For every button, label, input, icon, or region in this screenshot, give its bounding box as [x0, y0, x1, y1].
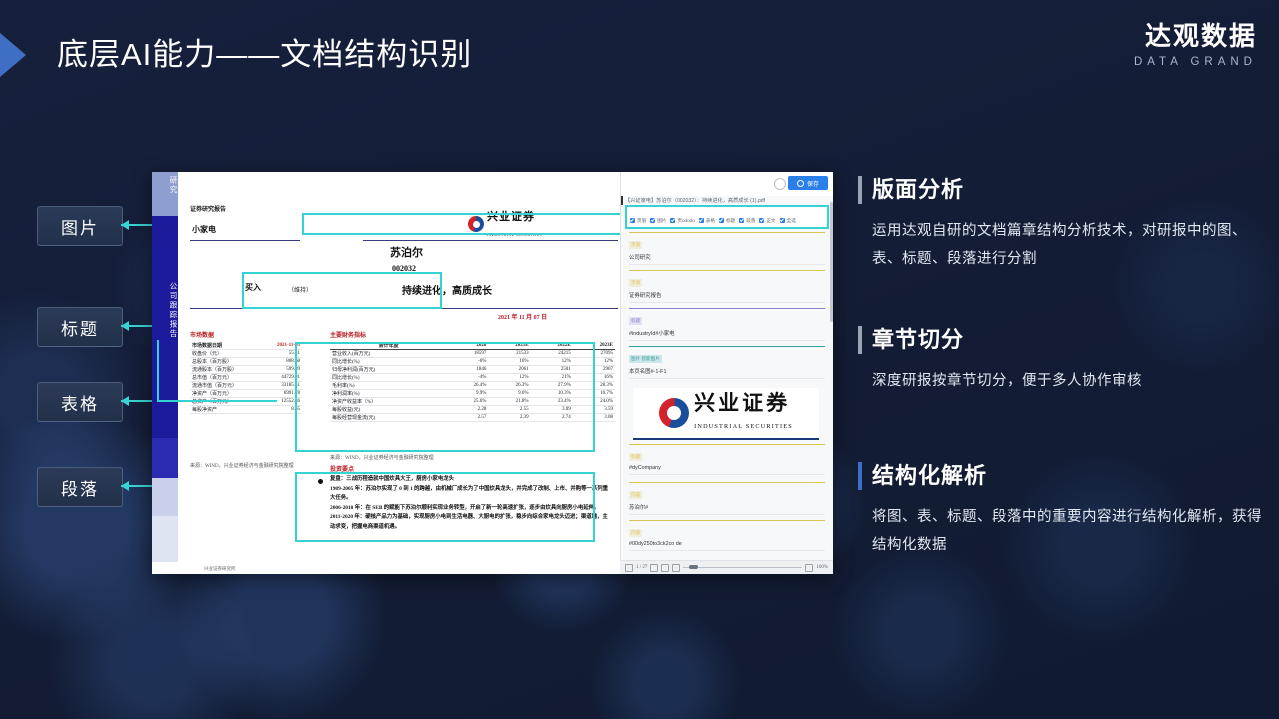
- tag-heading-arrowhead: [121, 321, 129, 331]
- structure-field[interactable]: 标题#industryId#小家电: [629, 308, 825, 341]
- document-viewer[interactable]: 研究 公司跟踪报告 证券研究报告 小家电 兴业证券 INDUSTRIAL SEC…: [152, 172, 833, 574]
- filter-checkbox[interactable]: 表格: [699, 218, 715, 224]
- field-tag: 图片 智能图片: [629, 355, 662, 363]
- field-tag: 标题: [629, 453, 642, 461]
- brand-logo: 达观数据 DATA GRAND: [1134, 22, 1257, 68]
- title-arrow-icon: [0, 33, 26, 77]
- highlight-image-region: [302, 213, 620, 235]
- tag-paragraph-label: 段落: [61, 475, 99, 500]
- field-accent-bar: [629, 520, 825, 521]
- feature-3-accent-bar: [858, 462, 862, 490]
- market-table-title: 市场数据: [190, 330, 214, 339]
- file-indicator: [621, 196, 623, 205]
- structure-field[interactable]: 页眉公司研究: [629, 232, 825, 265]
- field-value[interactable]: 证券研究报告: [629, 291, 825, 303]
- filter-checkbox-label: 全选: [787, 218, 796, 224]
- field-value[interactable]: 本页名图#-1-F1: [629, 367, 825, 379]
- zoom-in-icon[interactable]: [805, 564, 813, 572]
- checkbox-checked-icon: [780, 218, 785, 223]
- field-tag: 页眉: [629, 241, 642, 249]
- structure-field[interactable]: 内容#00dy250to3ck2co de: [629, 520, 825, 551]
- field-value[interactable]: #dyCompany: [629, 465, 825, 475]
- panel-scrollbar[interactable]: [830, 202, 833, 322]
- feature-2-heading: 章节切分: [872, 322, 1267, 354]
- page-indicator: 1 / 27: [636, 565, 647, 570]
- doc-kicker: 证券研究报告: [190, 204, 226, 213]
- save-button[interactable]: 保存: [788, 176, 828, 190]
- brand-name-cn: 达观数据: [1134, 22, 1257, 51]
- tag-image-arrowhead: [121, 220, 129, 230]
- xingye-mark-icon: [659, 398, 689, 428]
- checkbox-checked-icon: [630, 218, 635, 223]
- tag-image-label: 图片: [61, 214, 99, 239]
- field-value[interactable]: 苏泊尔#: [629, 503, 825, 515]
- field-value[interactable]: #industryId#小家电: [629, 329, 825, 341]
- zoom-slider-knob[interactable]: [689, 565, 698, 569]
- filter-checkbox-label: 页眉: [637, 218, 646, 224]
- save-button-label: 保存: [807, 179, 819, 188]
- filter-checkbox-label: 正文: [766, 218, 775, 224]
- highlight-paragraph-region: [295, 472, 595, 542]
- filter-checkbox-label: 标题: [726, 218, 735, 224]
- feature-section-3: 结构化解析 将图、表、标题、段落中的重要内容进行结构化解析，获得结构化数据: [872, 458, 1267, 559]
- history-icon[interactable]: [774, 178, 786, 190]
- checkbox-checked-icon: [670, 218, 675, 223]
- doc-date: 2021 年 11 月 07 日: [498, 312, 547, 321]
- filter-checkbox-group[interactable]: 页眉图片页ododo表格标题段落正文全选: [625, 205, 829, 229]
- tag-image[interactable]: 图片: [37, 206, 123, 246]
- feature-1-heading: 版面分析: [872, 172, 1267, 204]
- doc-company: 苏泊尔: [390, 244, 423, 260]
- highlight-market-region: [157, 340, 277, 402]
- tag-table-label: 表格: [61, 390, 99, 415]
- tag-table-arrowhead: [121, 396, 129, 406]
- field-accent-bar: [629, 270, 825, 271]
- structure-panel[interactable]: 保存 【兴证家电】苏泊尔（002032）：持续进化，高质成长 (1).pdf 页…: [620, 172, 833, 574]
- filter-checkbox[interactable]: 正文: [759, 218, 775, 224]
- feature-3-heading: 结构化解析: [872, 458, 1267, 490]
- feature-3-body: 将图、表、标题、段落中的重要内容进行结构化解析，获得结构化数据: [872, 503, 1267, 559]
- field-value[interactable]: 公司研究: [629, 253, 825, 265]
- page-title: 底层AI能力——文档结构识别: [57, 29, 472, 74]
- market-row-label: 每股净资产: [190, 406, 262, 414]
- checkbox-checked-icon: [650, 218, 655, 223]
- checkbox-checked-icon: [699, 218, 704, 223]
- field-accent-bar: [629, 346, 825, 347]
- filter-checkbox[interactable]: 全选: [780, 218, 796, 224]
- structure-field[interactable]: 页眉证券研究报告: [629, 270, 825, 303]
- viewer-bottom-toolbar[interactable]: 1 / 27 100%: [620, 560, 833, 574]
- feature-1-body: 运用达观自研的文档篇章结构分析技术，对研报中的图、表、标题、段落进行分割: [872, 217, 1267, 273]
- doc-footer: 兴业证券研究所: [204, 566, 236, 572]
- fit-page-icon[interactable]: [625, 564, 633, 572]
- structure-toolbar: 保存: [621, 172, 833, 196]
- checkbox-checked-icon: [739, 218, 744, 223]
- field-accent-bar: [629, 308, 825, 309]
- tag-paragraph-arrowhead: [121, 481, 129, 491]
- zoom-level: 100%: [816, 565, 828, 570]
- highlight-heading-region: [242, 272, 442, 309]
- field-value[interactable]: #00dy250to3ck2co de: [629, 541, 825, 551]
- filter-checkbox-label: 图片: [657, 218, 666, 224]
- field-tag: 内容: [629, 491, 642, 499]
- slide-header: 底层AI能力——文档结构识别 达观数据 DATA GRAND: [0, 0, 1279, 100]
- save-spinner-icon: [797, 180, 804, 187]
- spine-top-text: 研究: [152, 176, 178, 195]
- extracted-logo-en: INDUSTRIAL SECURITIES: [694, 423, 793, 430]
- feature-2-accent-bar: [858, 326, 862, 354]
- rotate-left-icon[interactable]: [650, 564, 658, 572]
- filter-checkbox[interactable]: 标题: [719, 218, 735, 224]
- checkbox-checked-icon: [759, 218, 764, 223]
- filter-checkbox[interactable]: 页ododo: [670, 218, 694, 224]
- filter-checkbox[interactable]: 段落: [739, 218, 755, 224]
- rotate-right-icon[interactable]: [661, 564, 669, 572]
- field-accent-bar: [629, 482, 825, 483]
- field-accent-bar: [629, 444, 825, 445]
- tag-heading[interactable]: 标题: [37, 307, 123, 347]
- filter-checkbox[interactable]: 页眉: [630, 218, 646, 224]
- checkbox-checked-icon: [719, 218, 724, 223]
- feature-1-accent-bar: [858, 176, 862, 204]
- zoom-slider[interactable]: [683, 567, 802, 568]
- pdf-page-pane[interactable]: 研究 公司跟踪报告 证券研究报告 小家电 兴业证券 INDUSTRIAL SEC…: [152, 172, 620, 574]
- feature-section-2: 章节切分 深度研报按章节切分，便于多人协作审核: [872, 322, 1267, 395]
- tag-heading-label: 标题: [61, 315, 99, 340]
- zoom-out-icon[interactable]: [672, 564, 680, 572]
- field-accent-bar: [629, 232, 825, 233]
- file-name: 【兴证家电】苏泊尔（002032）：持续进化，高质成长 (1).pdf: [625, 197, 830, 204]
- extracted-logo-cn: 兴业证券: [694, 391, 790, 415]
- spine-main-text: 公司跟踪报告: [152, 282, 178, 339]
- filter-checkbox-label: 表格: [706, 218, 715, 224]
- filter-checkbox[interactable]: 图片: [650, 218, 666, 224]
- extracted-image-logo: 兴业证券 INDUSTRIAL SECURITIES: [633, 388, 819, 440]
- feature-2-body: 深度研报按章节切分，便于多人协作审核: [872, 367, 1267, 395]
- fin-table-title: 主要财务指标: [330, 330, 366, 339]
- filter-checkbox-label: 段落: [746, 218, 755, 224]
- structure-field[interactable]: 图片 智能图片本页名图#-1-F1: [629, 346, 825, 379]
- highlight-table-region: [295, 342, 595, 452]
- structure-field[interactable]: 标题#dyCompany: [629, 444, 825, 475]
- feature-section-1: 版面分析 运用达观自研的文档篇章结构分析技术，对研报中的图、表、标题、段落进行分…: [872, 172, 1267, 273]
- field-tag: 页眉: [629, 279, 642, 287]
- structure-field[interactable]: 内容苏泊尔#: [629, 482, 825, 515]
- market-table-source: 来源：WIND，兴业证券经济与金融研究院整理: [190, 462, 294, 469]
- table-row: 每股净资产8.65: [190, 406, 302, 414]
- tag-table[interactable]: 表格: [37, 382, 123, 422]
- fin-table-source: 来源：WIND，兴业证券经济与金融研究院整理: [330, 454, 434, 461]
- brand-name-en: DATA GRAND: [1134, 56, 1257, 68]
- tag-paragraph[interactable]: 段落: [37, 467, 123, 507]
- doc-industry: 小家电: [192, 224, 216, 235]
- field-tag: 标题: [629, 317, 642, 325]
- field-tag: 内容: [629, 529, 642, 537]
- filter-checkbox-label: 页ododo: [677, 218, 694, 224]
